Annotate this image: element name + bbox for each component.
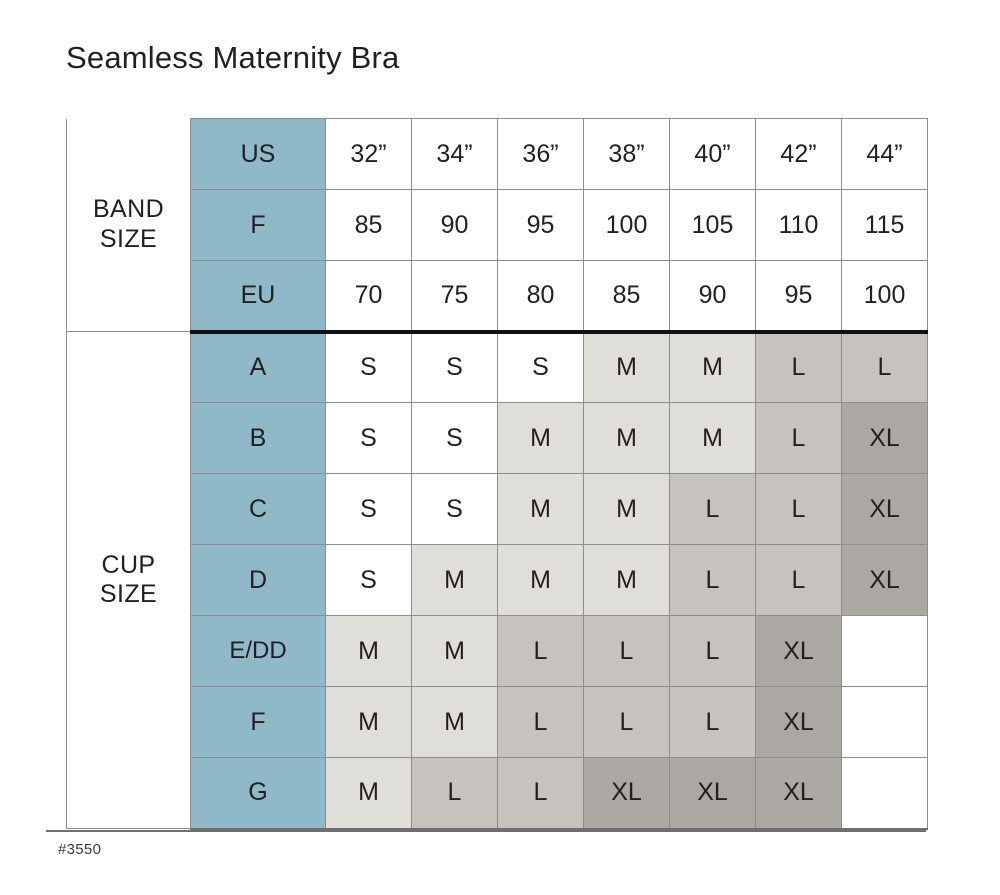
cup-cell-b-3: M xyxy=(584,403,670,474)
cup-cell-d-4: L xyxy=(670,545,756,616)
band-cell-us-5: 42” xyxy=(756,119,842,190)
cup-cell-e-dd-4: L xyxy=(670,616,756,687)
cup-cell-f-0: M xyxy=(326,687,412,758)
band-cell-f-4: 105 xyxy=(670,190,756,261)
product-code: #3550 xyxy=(58,841,101,858)
cup-cell-c-5: L xyxy=(756,474,842,545)
cup-key-f: F xyxy=(191,687,326,758)
band-cell-f-6: 115 xyxy=(842,190,928,261)
cup-cell-b-0: S xyxy=(326,403,412,474)
band-cell-us-1: 34” xyxy=(412,119,498,190)
cup-cell-g-2: L xyxy=(498,758,584,829)
cup-cell-f-1: M xyxy=(412,687,498,758)
band-cell-us-6: 44” xyxy=(842,119,928,190)
cup-cell-f-5: XL xyxy=(756,687,842,758)
cup-cell-g-1: L xyxy=(412,758,498,829)
band-row-us: BANDSIZEUS32”34”36”38”40”42”44” xyxy=(67,119,928,190)
cup-cell-b-5: L xyxy=(756,403,842,474)
cup-cell-f-3: L xyxy=(584,687,670,758)
band-size-group-label-line-1: BAND xyxy=(67,195,190,225)
cup-cell-d-5: L xyxy=(756,545,842,616)
cup-size-group-label-line-2: SIZE xyxy=(67,580,190,610)
cup-cell-d-2: M xyxy=(498,545,584,616)
cup-cell-b-2: M xyxy=(498,403,584,474)
cup-row-a: CUPSIZEASSSMMLL xyxy=(67,332,928,403)
band-cell-eu-6: 100 xyxy=(842,261,928,332)
band-cell-eu-2: 80 xyxy=(498,261,584,332)
cup-row-d: DSMMMLLXL xyxy=(67,545,928,616)
band-size-group-label: BANDSIZE xyxy=(67,119,191,332)
cup-cell-e-dd-2: L xyxy=(498,616,584,687)
cup-cell-e-dd-6 xyxy=(842,616,928,687)
band-cell-f-3: 100 xyxy=(584,190,670,261)
cup-cell-c-0: S xyxy=(326,474,412,545)
cup-key-d: D xyxy=(191,545,326,616)
cup-key-c: C xyxy=(191,474,326,545)
size-chart-page: Seamless Maternity Bra BANDSIZEUS32”34”3… xyxy=(0,0,1000,895)
cup-cell-e-dd-5: XL xyxy=(756,616,842,687)
cup-row-g: GMLLXLXLXL xyxy=(67,758,928,829)
page-title: Seamless Maternity Bra xyxy=(66,40,399,76)
cup-cell-a-3: M xyxy=(584,332,670,403)
cup-cell-c-2: M xyxy=(498,474,584,545)
band-key-eu: EU xyxy=(191,261,326,332)
band-key-us: US xyxy=(191,119,326,190)
cup-cell-a-6: L xyxy=(842,332,928,403)
cup-cell-f-6 xyxy=(842,687,928,758)
band-cell-f-1: 90 xyxy=(412,190,498,261)
cup-cell-d-6: XL xyxy=(842,545,928,616)
band-cell-us-4: 40” xyxy=(670,119,756,190)
cup-cell-g-6 xyxy=(842,758,928,829)
cup-key-a: A xyxy=(191,332,326,403)
cup-cell-b-1: S xyxy=(412,403,498,474)
band-cell-us-2: 36” xyxy=(498,119,584,190)
cup-cell-c-3: M xyxy=(584,474,670,545)
band-row-eu: EU707580859095100 xyxy=(67,261,928,332)
cup-size-group-label: CUPSIZE xyxy=(67,332,191,829)
cup-cell-c-6: XL xyxy=(842,474,928,545)
band-key-f: F xyxy=(191,190,326,261)
cup-cell-d-0: S xyxy=(326,545,412,616)
cup-cell-e-dd-1: M xyxy=(412,616,498,687)
cup-cell-c-1: S xyxy=(412,474,498,545)
cup-cell-a-0: S xyxy=(326,332,412,403)
band-row-f: F859095100105110115 xyxy=(67,190,928,261)
cup-cell-a-2: S xyxy=(498,332,584,403)
cup-cell-b-6: XL xyxy=(842,403,928,474)
cup-size-group-label-line-1: CUP xyxy=(67,551,190,581)
cup-cell-g-0: M xyxy=(326,758,412,829)
band-cell-eu-3: 85 xyxy=(584,261,670,332)
cup-cell-g-3: XL xyxy=(584,758,670,829)
band-cell-eu-5: 95 xyxy=(756,261,842,332)
cup-cell-a-4: M xyxy=(670,332,756,403)
band-cell-us-0: 32” xyxy=(326,119,412,190)
cup-cell-d-3: M xyxy=(584,545,670,616)
cup-cell-g-5: XL xyxy=(756,758,842,829)
cup-row-c: CSSMMLLXL xyxy=(67,474,928,545)
cup-cell-a-5: L xyxy=(756,332,842,403)
cup-cell-e-dd-0: M xyxy=(326,616,412,687)
cup-cell-g-4: XL xyxy=(670,758,756,829)
band-cell-f-5: 110 xyxy=(756,190,842,261)
cup-cell-e-dd-3: L xyxy=(584,616,670,687)
size-chart-table: BANDSIZEUS32”34”36”38”40”42”44”F85909510… xyxy=(66,118,928,830)
footer-divider xyxy=(46,830,926,832)
cup-row-b: BSSMMMLXL xyxy=(67,403,928,474)
band-cell-eu-1: 75 xyxy=(412,261,498,332)
band-cell-eu-4: 90 xyxy=(670,261,756,332)
cup-cell-a-1: S xyxy=(412,332,498,403)
cup-key-b: B xyxy=(191,403,326,474)
cup-key-e-dd: E/DD xyxy=(191,616,326,687)
cup-row-e-dd: E/DDMMLLLXL xyxy=(67,616,928,687)
cup-row-f: FMMLLLXL xyxy=(67,687,928,758)
band-cell-f-0: 85 xyxy=(326,190,412,261)
band-size-group-label-line-2: SIZE xyxy=(67,225,190,255)
size-chart: BANDSIZEUS32”34”36”38”40”42”44”F85909510… xyxy=(66,118,926,830)
cup-cell-f-4: L xyxy=(670,687,756,758)
cup-key-g: G xyxy=(191,758,326,829)
band-cell-f-2: 95 xyxy=(498,190,584,261)
band-cell-eu-0: 70 xyxy=(326,261,412,332)
band-cell-us-3: 38” xyxy=(584,119,670,190)
size-chart-body: BANDSIZEUS32”34”36”38”40”42”44”F85909510… xyxy=(67,119,928,829)
cup-cell-f-2: L xyxy=(498,687,584,758)
cup-cell-b-4: M xyxy=(670,403,756,474)
cup-cell-c-4: L xyxy=(670,474,756,545)
cup-cell-d-1: M xyxy=(412,545,498,616)
